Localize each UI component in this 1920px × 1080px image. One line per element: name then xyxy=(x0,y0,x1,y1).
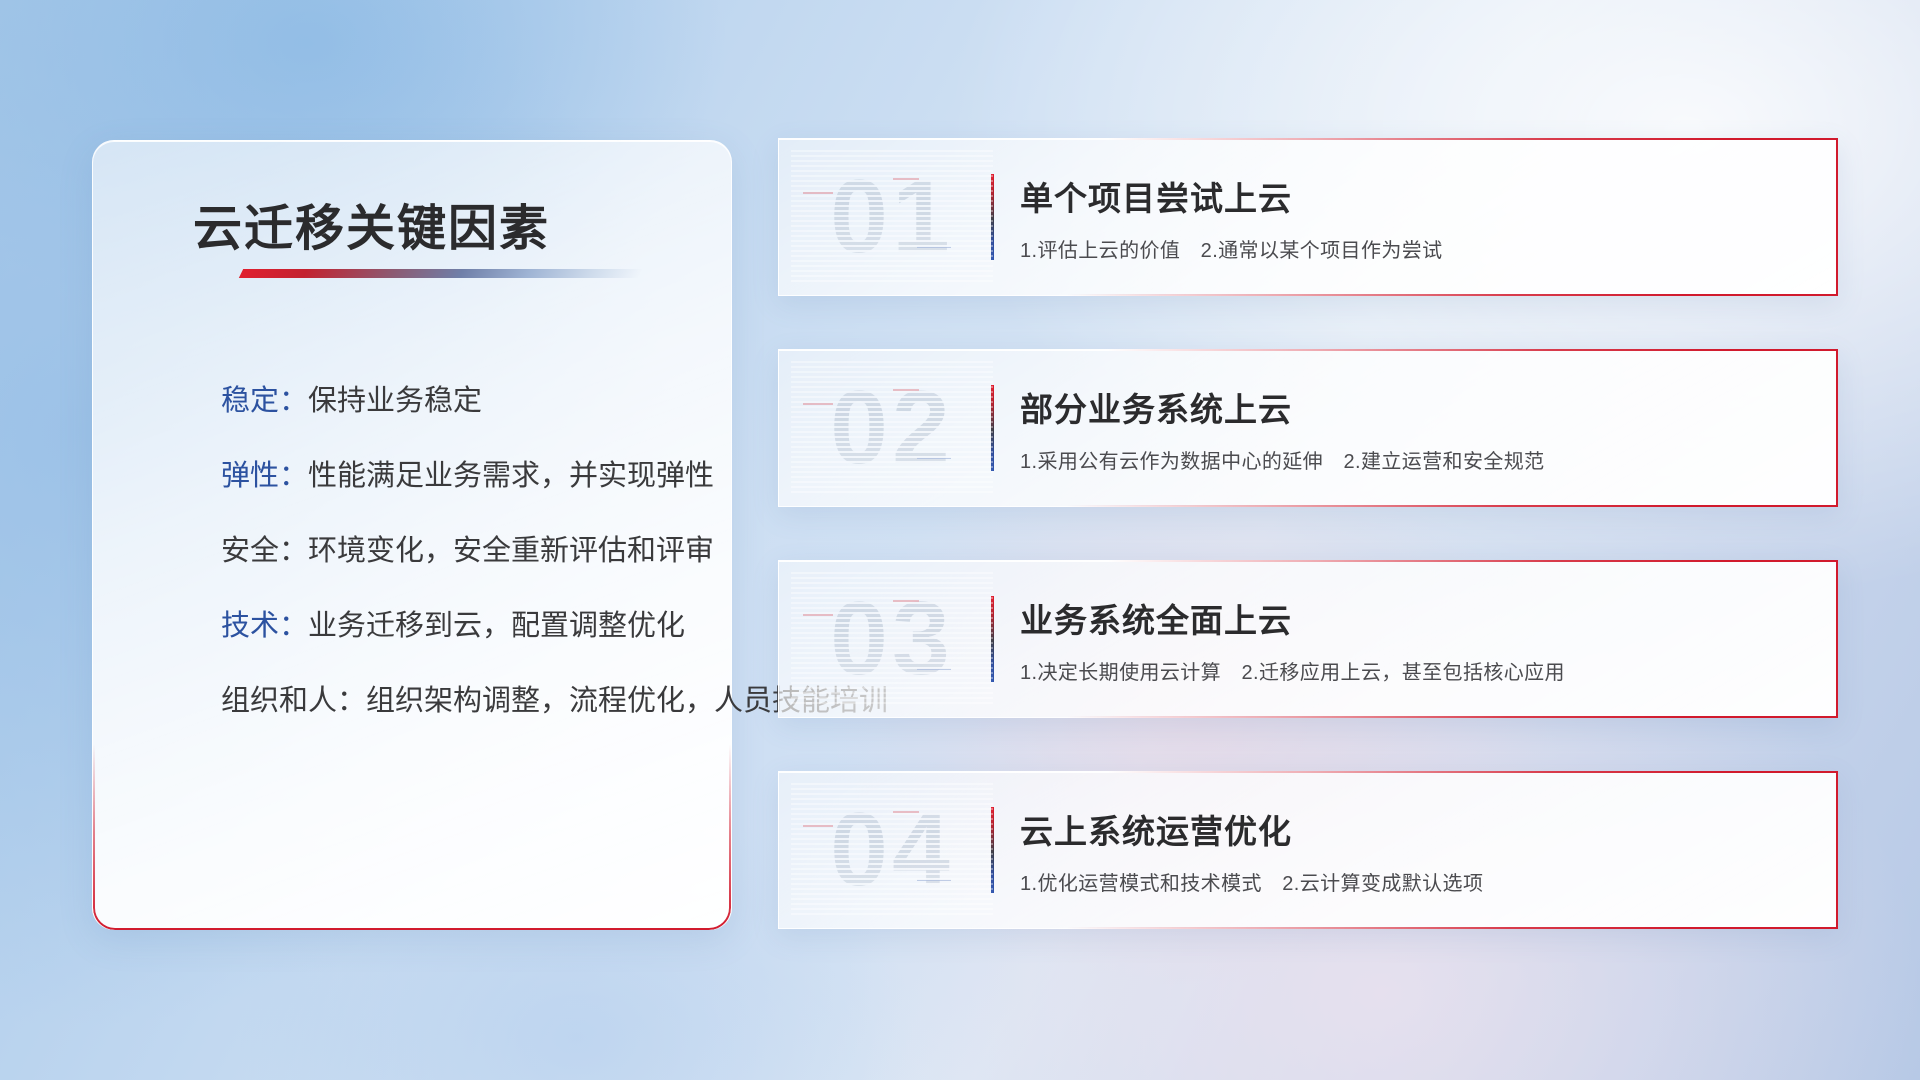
factor-row: 弹性：性能满足业务需求，并实现弹性 xyxy=(221,462,685,491)
stage-number-text: 02 xyxy=(830,369,954,488)
key-factors-panel: 云迁移关键因素 稳定：保持业务稳定弹性：性能满足业务需求，并实现弹性安全：环境变… xyxy=(92,140,732,930)
page-title: 云迁移关键因素 xyxy=(193,189,550,260)
stage-number-watermark: 04 xyxy=(797,791,987,909)
stage-number-text: 03 xyxy=(830,580,954,699)
factor-row: 组织和人：组织架构调整，流程优化，人员技能培训 xyxy=(221,687,685,716)
card-description: 1.优化运营模式和技术模式 2.云计算变成默认选项 xyxy=(1020,867,1811,896)
factor-row: 稳定：保持业务稳定 xyxy=(221,387,685,416)
stage-number-watermark: 01 xyxy=(797,158,987,276)
stage-card[interactable]: 02部分业务系统上云1.采用公有云作为数据中心的延伸 2.建立运营和安全规范 xyxy=(778,349,1838,507)
factor-value: 保持业务稳定 xyxy=(308,385,482,417)
factor-list: 稳定：保持业务稳定弹性：性能满足业务需求，并实现弹性安全：环境变化，安全重新评估… xyxy=(221,387,685,716)
card-accent-divider xyxy=(991,596,994,682)
card-description: 1.采用公有云作为数据中心的延伸 2.建立运营和安全规范 xyxy=(1020,445,1811,474)
migration-stage-cards: 01单个项目尝试上云1.评估上云的价值 2.通常以某个项目作为尝试02部分业务系… xyxy=(778,138,1838,929)
card-description: 1.决定长期使用云计算 2.迁移应用上云，甚至包括核心应用 xyxy=(1020,656,1811,685)
stage-number-text: 01 xyxy=(830,158,954,277)
card-title: 单个项目尝试上云 xyxy=(1020,172,1811,220)
factor-label: 稳定： xyxy=(221,385,308,417)
factor-value: 业务迁移到云，配置调整优化 xyxy=(308,610,685,642)
card-title: 云上系统运营优化 xyxy=(1020,805,1811,853)
factor-label: 弹性： xyxy=(221,460,308,492)
card-body: 部分业务系统上云1.采用公有云作为数据中心的延伸 2.建立运营和安全规范 xyxy=(1020,383,1837,474)
card-title: 业务系统全面上云 xyxy=(1020,594,1811,642)
card-accent-divider xyxy=(991,174,994,260)
factor-label: 技术： xyxy=(221,610,308,642)
card-body: 单个项目尝试上云1.评估上云的价值 2.通常以某个项目作为尝试 xyxy=(1020,172,1837,263)
card-accent-divider xyxy=(991,807,994,893)
stage-number-watermark: 03 xyxy=(797,580,987,698)
glitch-accent-line xyxy=(803,825,833,827)
factor-label: 安全： xyxy=(221,535,308,567)
card-body: 云上系统运营优化1.优化运营模式和技术模式 2.云计算变成默认选项 xyxy=(1020,805,1837,896)
stage-card[interactable]: 01单个项目尝试上云1.评估上云的价值 2.通常以某个项目作为尝试 xyxy=(778,138,1838,296)
title-underline-accent xyxy=(239,269,643,278)
card-title: 部分业务系统上云 xyxy=(1020,383,1811,431)
stage-card[interactable]: 03业务系统全面上云1.决定长期使用云计算 2.迁移应用上云，甚至包括核心应用 xyxy=(778,560,1838,718)
factor-row: 技术：业务迁移到云，配置调整优化 xyxy=(221,612,685,641)
slide-canvas: 云迁移关键因素 稳定：保持业务稳定弹性：性能满足业务需求，并实现弹性安全：环境变… xyxy=(0,0,1920,1080)
factor-value: 性能满足业务需求，并实现弹性 xyxy=(308,460,714,492)
glitch-accent-line xyxy=(803,192,833,194)
glitch-accent-line xyxy=(803,614,833,616)
glitch-accent-line xyxy=(803,403,833,405)
card-accent-divider xyxy=(991,385,994,471)
factor-row: 安全：环境变化，安全重新评估和评审 xyxy=(221,537,685,566)
card-body: 业务系统全面上云1.决定长期使用云计算 2.迁移应用上云，甚至包括核心应用 xyxy=(1020,594,1837,685)
stage-number-watermark: 02 xyxy=(797,369,987,487)
stage-card[interactable]: 04云上系统运营优化1.优化运营模式和技术模式 2.云计算变成默认选项 xyxy=(778,771,1838,929)
factor-value: 环境变化，安全重新评估和评审 xyxy=(308,535,714,567)
factor-label: 组织和人： xyxy=(221,685,366,717)
stage-number-text: 04 xyxy=(830,791,954,910)
card-description: 1.评估上云的价值 2.通常以某个项目作为尝试 xyxy=(1020,234,1811,263)
